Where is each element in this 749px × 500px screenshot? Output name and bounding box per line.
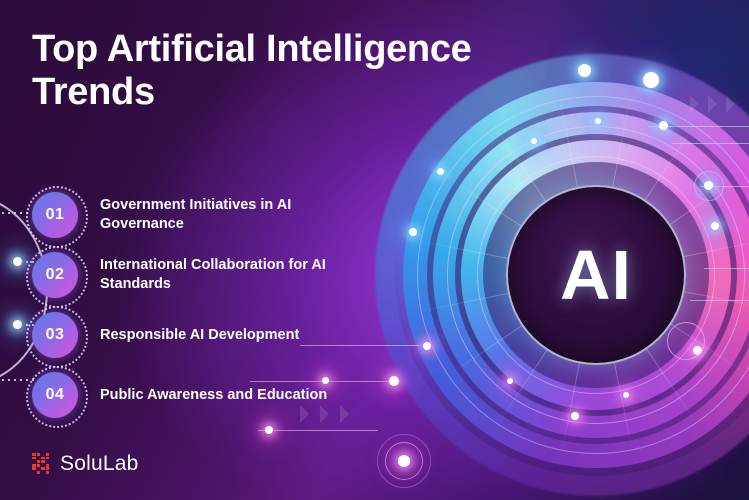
logo-pixel bbox=[41, 457, 45, 460]
glow-node-top bbox=[578, 64, 591, 77]
chevron-icon-tr-2 bbox=[708, 95, 717, 113]
logo-pixel bbox=[46, 467, 50, 470]
circuit-node-tr-1 bbox=[659, 121, 668, 130]
glow-node-bottom bbox=[571, 412, 579, 420]
logo-pixel bbox=[46, 464, 50, 467]
trend-badge-03: 03 bbox=[32, 312, 78, 358]
list-item[interactable]: 02 International Collaboration for AI St… bbox=[32, 245, 362, 305]
page-title: Top Artificial Intelligence Trends bbox=[32, 28, 512, 113]
trends-list: 01 Government Initiatives in AI Governan… bbox=[32, 185, 362, 425]
logo-pixel bbox=[46, 453, 50, 456]
chevron-icon-tr-3 bbox=[726, 95, 735, 113]
glow-node-inner-lower-left bbox=[507, 378, 513, 384]
trend-badge-02: 02 bbox=[32, 252, 78, 298]
logo-pixel bbox=[37, 471, 41, 474]
trend-number: 04 bbox=[46, 386, 65, 404]
circuit-node-halo-bottom-2 bbox=[377, 434, 431, 488]
logo-pixel bbox=[37, 453, 41, 456]
glow-node-right bbox=[711, 222, 719, 230]
list-item[interactable]: 01 Government Initiatives in AI Governan… bbox=[32, 185, 362, 245]
node-halo-bottom-right bbox=[667, 322, 705, 360]
glow-node-inner-lower-right bbox=[623, 392, 629, 398]
logo-pixel bbox=[41, 460, 45, 463]
glow-node-inner-upper-left bbox=[531, 138, 537, 144]
logo-pixel bbox=[32, 453, 36, 456]
logo-pixel bbox=[32, 467, 36, 470]
glow-node-left-upper bbox=[437, 168, 444, 175]
brand-name: SoluLab bbox=[60, 452, 138, 476]
trend-number: 02 bbox=[46, 266, 65, 284]
logo-pixel bbox=[32, 464, 36, 467]
logo-pixel bbox=[37, 464, 41, 467]
trend-label: Public Awareness and Education bbox=[100, 386, 327, 405]
glow-node-left-lower bbox=[423, 342, 431, 350]
infographic-canvas: AI Top Artif bbox=[0, 0, 749, 500]
logo-pixel bbox=[32, 457, 36, 460]
trend-label: International Collaboration for AI Stand… bbox=[100, 256, 362, 293]
chevron-icon-tr-1 bbox=[690, 95, 699, 113]
logo-pixel bbox=[46, 457, 50, 460]
ai-core-circle: AI bbox=[506, 185, 686, 365]
trend-badge-01: 01 bbox=[32, 192, 78, 238]
circuit-trace-bl-2 bbox=[258, 430, 378, 431]
logo-pixel bbox=[46, 471, 50, 474]
trend-label: Responsible AI Development bbox=[100, 326, 299, 345]
ai-circle-graphic: AI bbox=[381, 60, 749, 490]
trend-badge-04: 04 bbox=[32, 372, 78, 418]
brand-logo[interactable]: SoluLab bbox=[32, 452, 138, 476]
list-item[interactable]: 04 Public Awareness and Education bbox=[32, 365, 362, 425]
glow-node-left-mid bbox=[409, 228, 417, 236]
circuit-node-bl-1 bbox=[389, 376, 399, 386]
circuit-node-halo-tr bbox=[694, 171, 724, 201]
logo-pixel bbox=[37, 460, 41, 463]
glow-node-inner-top bbox=[595, 118, 601, 124]
trend-number: 01 bbox=[46, 206, 65, 224]
trend-number: 03 bbox=[46, 326, 65, 344]
logo-pixel bbox=[41, 467, 45, 470]
circuit-node-bl-3 bbox=[265, 426, 273, 434]
circuit-trace-r-2 bbox=[690, 300, 749, 301]
glow-node-top-right bbox=[643, 72, 659, 88]
circuit-trace-r-1 bbox=[704, 268, 749, 269]
ai-core-label: AI bbox=[560, 240, 632, 310]
solulab-logo-icon bbox=[32, 453, 52, 475]
circuit-trace-tr-2 bbox=[672, 143, 749, 144]
list-item[interactable]: 03 Responsible AI Development bbox=[32, 305, 362, 365]
trend-label: Government Initiatives in AI Governance bbox=[100, 196, 362, 233]
